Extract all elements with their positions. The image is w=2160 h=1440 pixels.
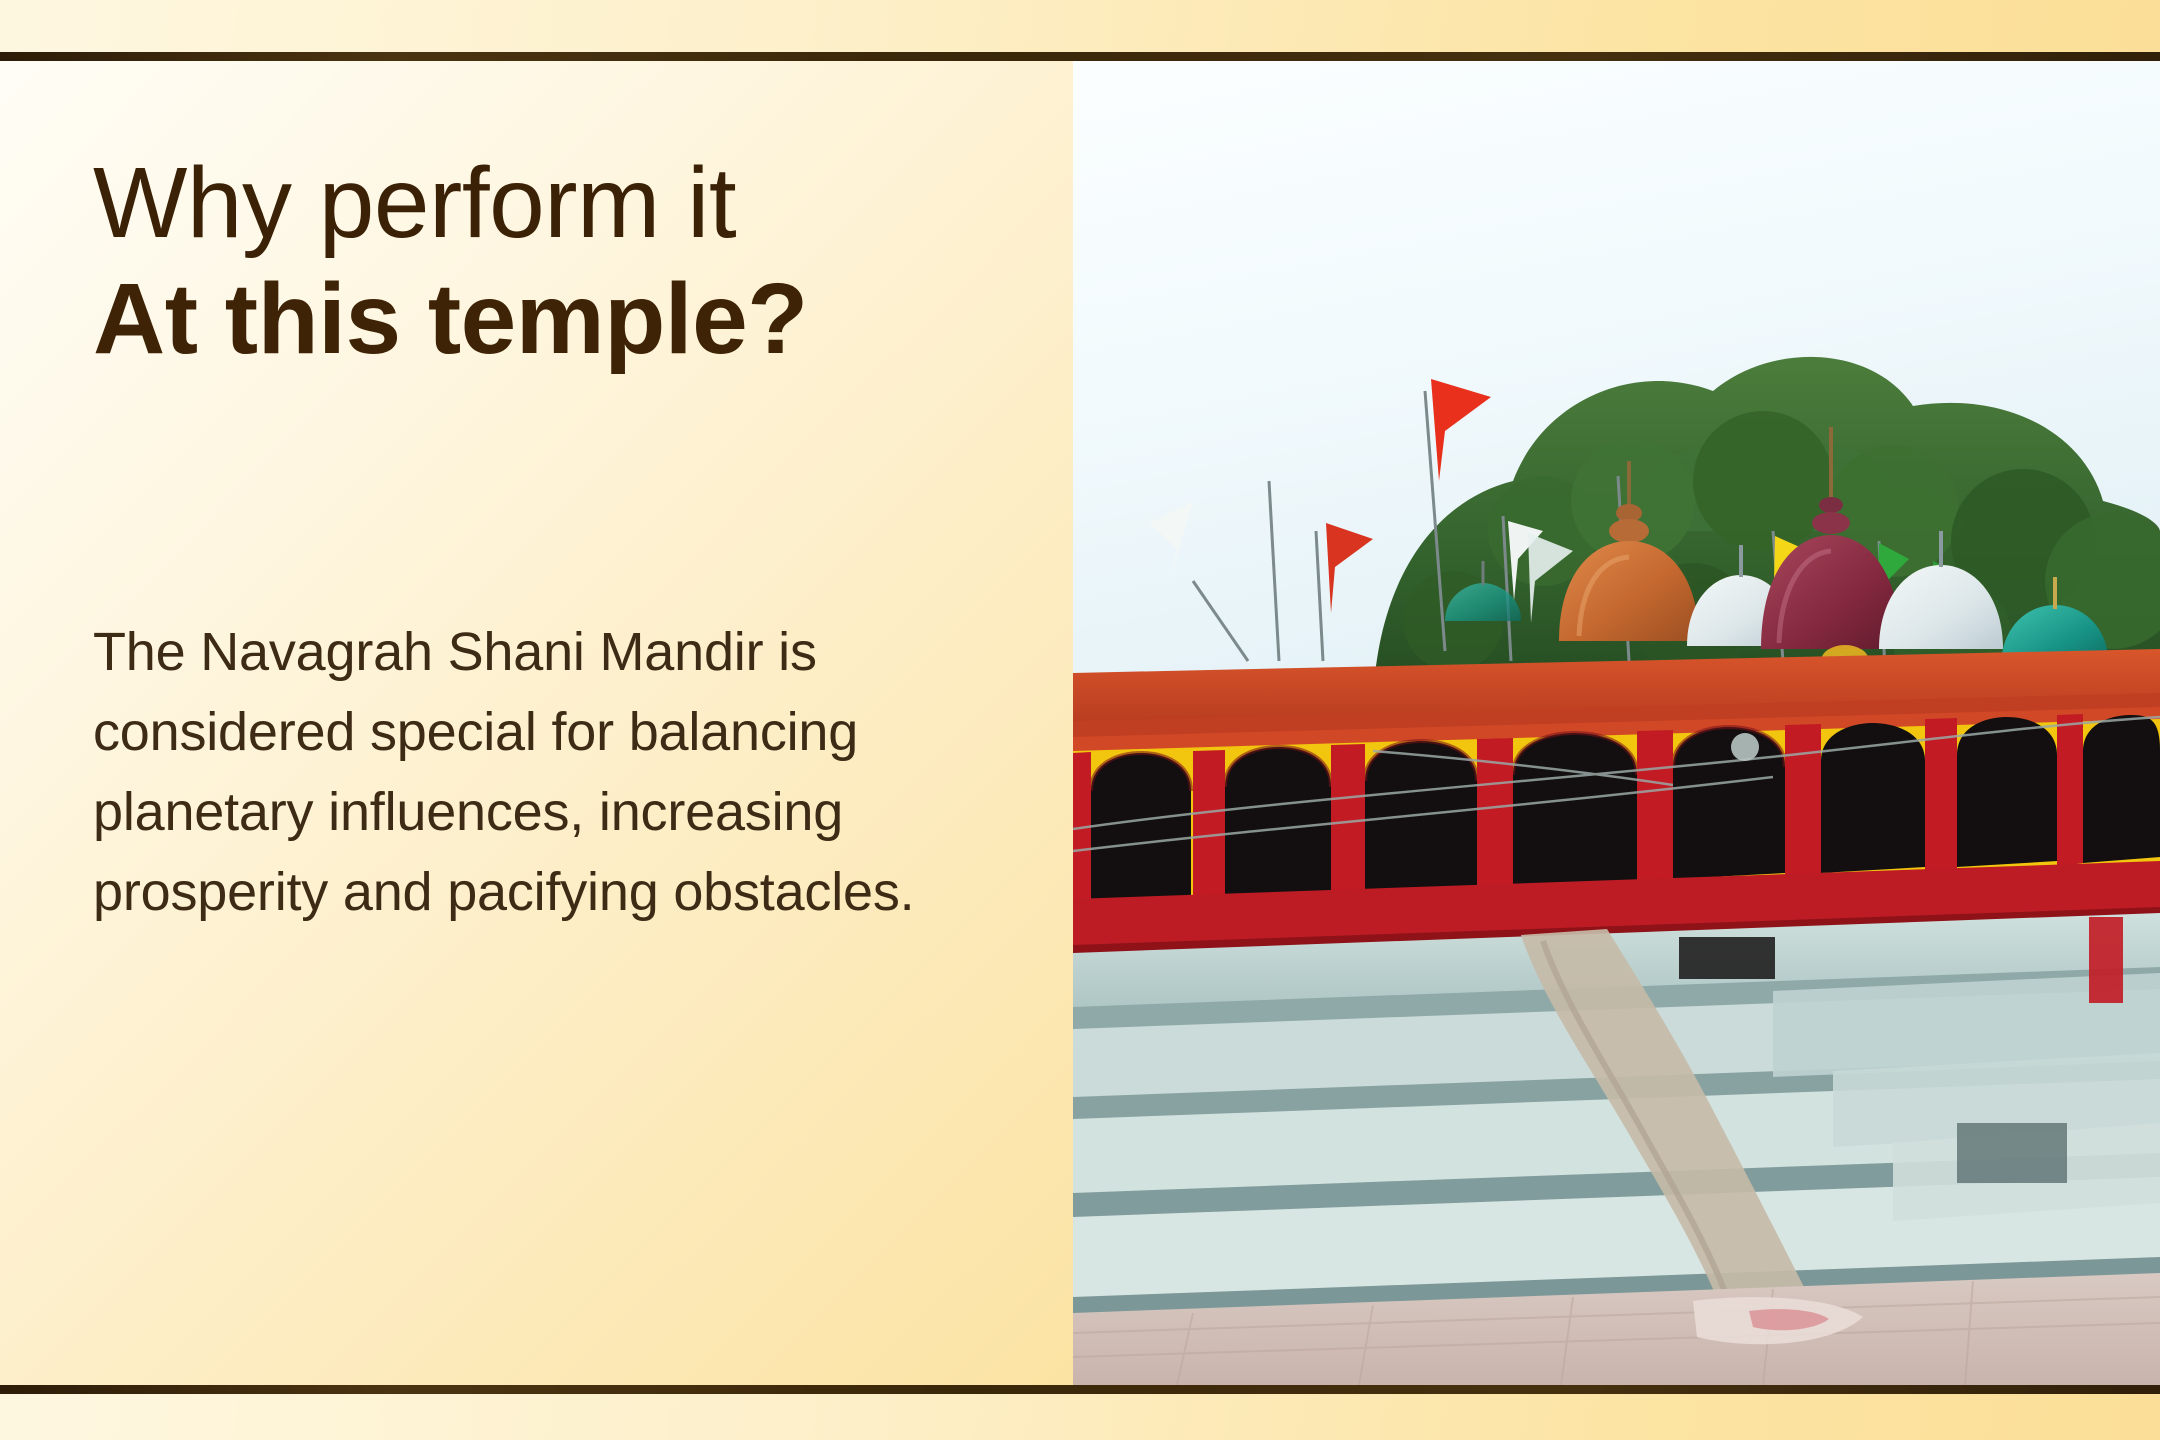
bottom-color-band	[0, 1394, 2160, 1440]
headline-line-2: At this temple?	[93, 263, 1023, 375]
page-title: Why perform it At this temple?	[93, 147, 1023, 375]
temple-illustration	[1073, 61, 2160, 1385]
top-color-band	[0, 0, 2160, 52]
slide-canvas: Why perform it At this temple? The Navag…	[0, 0, 2160, 1440]
top-divider-rule	[0, 52, 2160, 61]
plinth-recess	[1679, 937, 1775, 979]
step-block	[1957, 1123, 2067, 1183]
right-pillar-base	[2089, 917, 2123, 1003]
bottom-divider-rule	[0, 1385, 2160, 1394]
temple-photo	[1073, 61, 2160, 1385]
text-panel: Why perform it At this temple? The Navag…	[0, 61, 1073, 1385]
body-paragraph: The Navagrah Shani Mandir is considered …	[93, 613, 983, 933]
lamp-fixture	[1731, 733, 1759, 761]
headline-line-1: Why perform it	[93, 147, 1023, 259]
